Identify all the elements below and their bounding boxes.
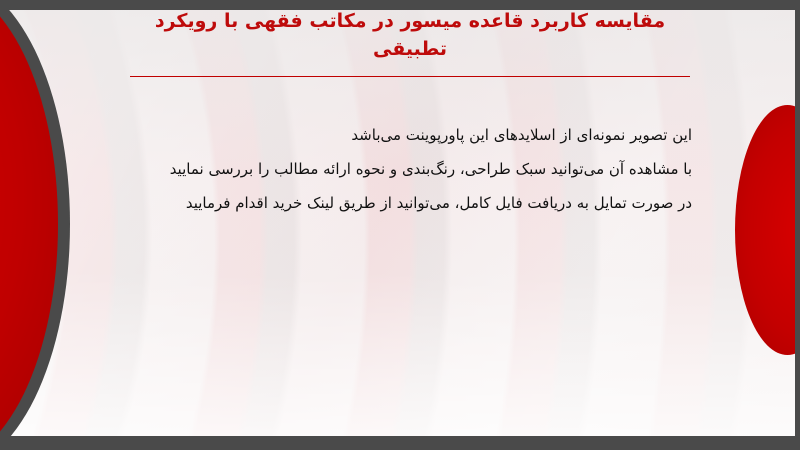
background-sheen-overlay [0,9,795,436]
body-line-3: در صورت تمایل به دریافت فایل کامل، می‌تو… [132,186,692,220]
body-line-1: این تصویر نمونه‌ای از اسلایدهای این پاور… [132,118,692,152]
slide-background-panel [0,9,795,436]
body-line-2: با مشاهده آن می‌توانید سبک طراحی، رنگ‌بن… [132,152,692,186]
frame-band-bottom [0,436,800,450]
title-underline-rule [130,76,690,77]
slide-title: مقایسه کاربرد قاعده میسور در مکاتب فقهی … [130,8,690,63]
slide-canvas: مقایسه کاربرد قاعده میسور در مکاتب فقهی … [0,0,800,450]
slide-body-text: این تصویر نمونه‌ای از اسلایدهای این پاور… [132,118,692,221]
frame-band-right [795,0,800,450]
